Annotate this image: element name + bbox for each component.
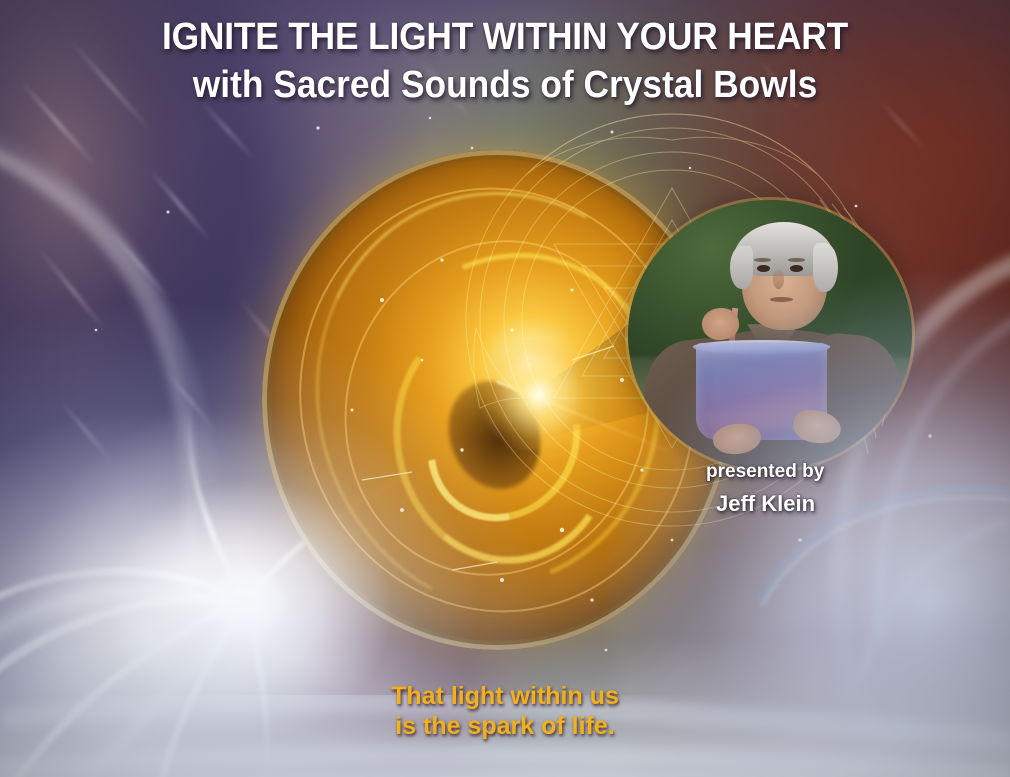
portrait-eye-left [757, 265, 770, 272]
portrait-eyebrow-left [754, 258, 771, 262]
portrait-eyebrow-right [788, 258, 805, 262]
presented-by-label: presented by [706, 462, 824, 481]
portrait-hair-left [730, 246, 753, 289]
presenter-portrait-photo [628, 200, 912, 470]
title-block: IGNITE THE LIGHT WITHIN YOUR HEART with … [0, 18, 1010, 104]
portrait-hair-right [813, 243, 839, 292]
portrait-eye-right [790, 265, 803, 272]
presenter-name: Jeff Klein [716, 493, 824, 515]
tagline-block: That light within us is the spark of lif… [0, 682, 1010, 740]
poster-title-line-1: IGNITE THE LIGHT WITHIN YOUR HEART [35, 18, 974, 56]
poster-title-line-2: with Sacred Sounds of Crystal Bowls [35, 66, 974, 104]
portrait-photo-content [628, 200, 912, 470]
poster-canvas: IGNITE THE LIGHT WITHIN YOUR HEART with … [0, 0, 1010, 777]
tagline-line-1: That light within us [0, 682, 1010, 710]
presenter-credit-block: presented by Jeff Klein [706, 462, 824, 515]
tagline-line-2: is the spark of life. [0, 712, 1010, 740]
portrait-mouth [770, 297, 793, 302]
